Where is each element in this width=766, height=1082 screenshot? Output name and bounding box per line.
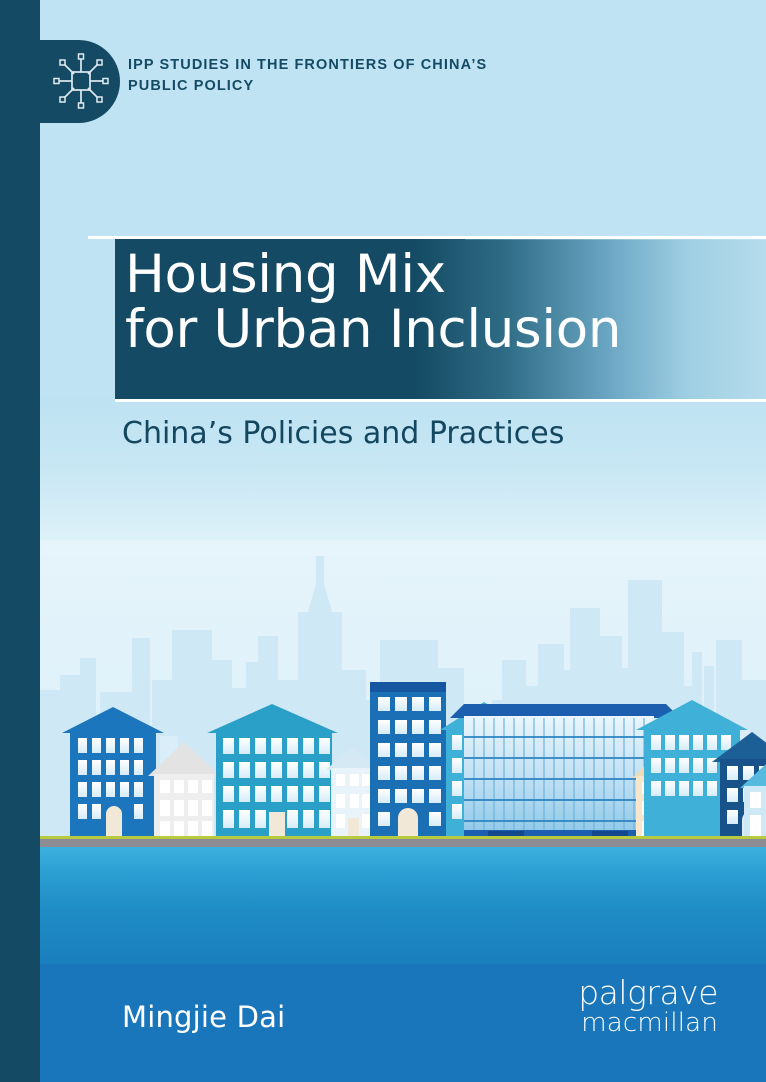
book-cover: IPP Studies in the Frontiers of China’s … bbox=[0, 0, 766, 1082]
author-name: Mingjie Dai bbox=[122, 1000, 285, 1034]
title-top-rule bbox=[88, 236, 766, 239]
title-bottom-rule bbox=[115, 399, 766, 402]
road-strip bbox=[40, 839, 766, 847]
book-subtitle: China’s Policies and Practices bbox=[122, 416, 722, 452]
header-background bbox=[0, 0, 766, 240]
series-title: IPP Studies in the Frontiers of China’s … bbox=[128, 55, 548, 97]
ipp-hub-network-icon bbox=[48, 48, 114, 114]
publisher-name-macmillan: macmillan bbox=[578, 1009, 718, 1039]
publisher-name-palgrave: palgrave bbox=[578, 977, 718, 1009]
book-title: Housing Mix for Urban Inclusion bbox=[125, 248, 765, 357]
series-logo-p bbox=[40, 40, 120, 123]
spine-bar bbox=[0, 0, 40, 1082]
city-skyline-illustration bbox=[40, 540, 766, 850]
publisher-logo: palgrave macmillan bbox=[578, 977, 718, 1039]
water-area bbox=[40, 847, 766, 964]
